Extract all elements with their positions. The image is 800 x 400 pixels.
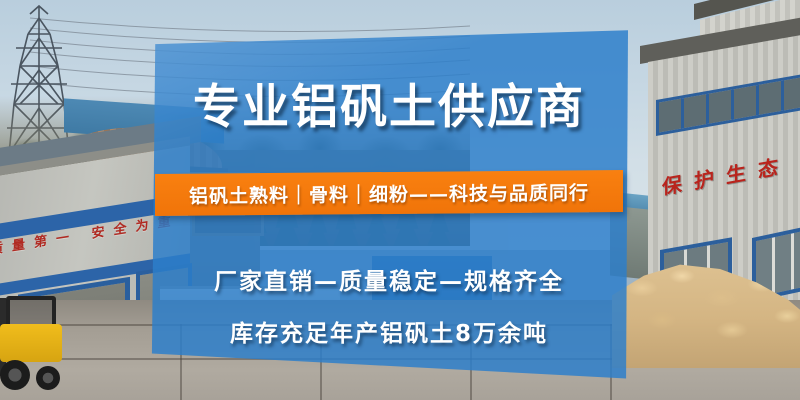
subline-1: 厂家直销—质量稳定—规格齐全 bbox=[150, 262, 628, 296]
forklift-body bbox=[0, 324, 62, 362]
forklift-rear-wheel bbox=[36, 366, 60, 390]
promo-banner: 质量第一 安全为重 保护生态 bbox=[0, 0, 800, 400]
page-title: 专业铝矾土供应商 bbox=[150, 82, 628, 134]
forklift bbox=[0, 296, 70, 392]
banner-content: 专业铝矾土供应商 铝矾土熟料｜骨料｜细粉——科技与品质同行 厂家直销—质量稳定—… bbox=[150, 26, 628, 382]
tagline-text: 铝矾土熟料｜骨料｜细粉——科技与品质同行 bbox=[155, 170, 623, 216]
forklift-front-wheel bbox=[0, 360, 30, 390]
tagline-bar: 铝矾土熟料｜骨料｜细粉——科技与品质同行 bbox=[155, 170, 623, 216]
subline-2: 库存充足年产铝矾土8万余吨 bbox=[150, 314, 628, 348]
